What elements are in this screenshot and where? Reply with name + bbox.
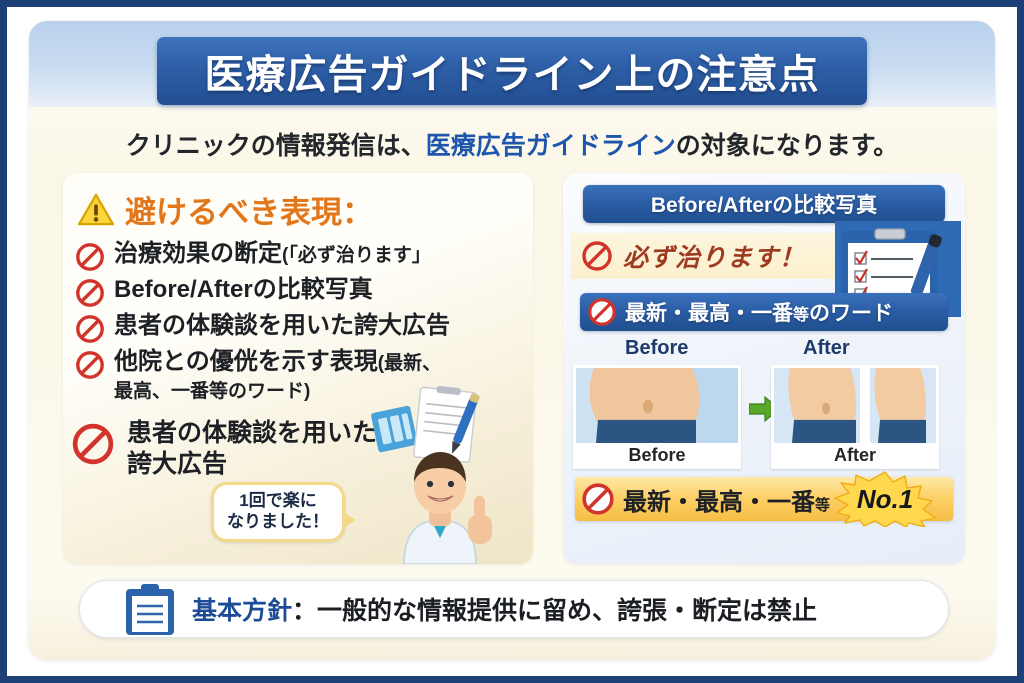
- subtitle-pre: クリニックの情報発信は、: [126, 132, 426, 160]
- after-caption: After: [774, 443, 936, 469]
- bubble-line1: 1回で楽に: [239, 491, 316, 510]
- list-item-main: 他院との優侊を示す表現: [114, 348, 378, 375]
- before-caption: Before: [576, 443, 738, 469]
- big-avoid-line2: 誇大広告: [127, 450, 227, 478]
- before-after-panel: Before/Afterの比較写真 必ず治ります！: [563, 173, 965, 564]
- warning-triangle-icon: [77, 193, 115, 227]
- list-item: 治療効果の断定(「必ず治ります」: [75, 240, 533, 272]
- before-photo-card: Before: [573, 365, 741, 469]
- no1-badge-label: No.1: [827, 471, 943, 527]
- prohibition-icon: [75, 278, 105, 308]
- list-item: 患者の体験談を用いた誇大広告: [75, 312, 533, 344]
- before-label: Before: [625, 337, 688, 360]
- list-item-note: (最新、: [378, 353, 441, 374]
- testimonial-speech-bubble: 1回で楽に なりました！: [211, 482, 345, 542]
- superlative-words-band: 最新・最高・一番等のワード: [580, 293, 948, 331]
- before-after-header-label: Before/Afterの比較写真: [651, 189, 877, 219]
- list-item-text: 患者の体験談を用いた誇大広告: [114, 312, 450, 340]
- list-item-main: 治療効果の断定: [114, 240, 282, 267]
- list-item-note: (「必ず治ります」: [282, 245, 431, 266]
- avoid-heading-row: 避けるべき表現：: [63, 173, 533, 234]
- outer-frame: 医療広告ガイドライン上の注意点 クリニックの情報発信は、医療広告ガイドラインの対…: [0, 0, 1024, 683]
- avoid-heading-label: 避けるべき表現：: [125, 187, 373, 232]
- infographic-card: 医療広告ガイドライン上の注意点 クリニックの情報発信は、医療広告ガイドラインの対…: [29, 21, 995, 660]
- after-photo-card: After: [771, 365, 939, 469]
- prohibition-icon: [581, 240, 613, 272]
- prohibition-icon: [75, 350, 105, 380]
- subtitle-highlight: 医療広告ガイドライン: [426, 132, 676, 160]
- subtitle: クリニックの情報発信は、医療広告ガイドラインの対象になります。: [29, 126, 995, 162]
- no1-claim-text: 最新・最高・一番等: [623, 482, 830, 517]
- big-avoid-line1: 患者の体験談を用いた: [127, 419, 377, 447]
- basic-policy-text: 基本方針：一般的な情報提供に留め、誇張・断定は禁止: [192, 591, 817, 627]
- body-area: 避けるべき表現： 治療効果の断定(「必ず治ります」: [63, 173, 965, 564]
- page-title-bar: 医療広告ガイドライン上の注意点: [157, 37, 867, 105]
- big-avoid-text: 患者の体験談を用いた 誇大広告: [127, 418, 377, 480]
- no1-claim-band: 最新・最高・一番等 No.1: [575, 477, 953, 521]
- superlative-words-text: 最新・最高・一番等のワード: [625, 297, 893, 327]
- no1-claim-main: 最新・最高・一番: [623, 489, 815, 516]
- prohibition-icon: [581, 482, 615, 516]
- list-item-main: 患者の体験談を用いた誇大広告: [114, 312, 450, 339]
- prohibition-icon: [75, 242, 105, 272]
- guaranteed-cure-callout: 必ず治ります！: [571, 233, 837, 279]
- prohibition-icon: [71, 422, 115, 466]
- superlative-small: 等: [793, 307, 809, 324]
- prohibition-icon: [587, 297, 617, 327]
- page-title: 医療広告ガイドライン上の注意点: [205, 42, 820, 100]
- prohibition-icon: [75, 314, 105, 344]
- superlative-main: 最新・最高・一番: [625, 302, 793, 325]
- before-after-labels: Before After: [563, 337, 965, 365]
- basic-policy-label: 基本方針: [192, 597, 292, 625]
- bubble-line2: なりました！: [227, 512, 329, 531]
- list-item-main: Before/Afterの比較写真: [114, 276, 373, 303]
- avoid-expressions-panel: 避けるべき表現： 治療効果の断定(「必ず治ります」: [63, 173, 533, 564]
- list-item-text: 治療効果の断定(「必ず治ります」: [114, 240, 431, 268]
- before-after-header: Before/Afterの比較写真: [583, 185, 945, 223]
- basic-policy-body: ：一般的な情報提供に留め、誇張・断定は禁止: [292, 597, 817, 625]
- subtitle-post: の対象になります。: [676, 132, 899, 160]
- avoid-list: 治療効果の断定(「必ず治ります」 Before/Afterの比較写真: [63, 234, 533, 404]
- guaranteed-cure-text: 必ず治ります！: [623, 238, 805, 274]
- clipboard-icon: [122, 581, 178, 637]
- superlative-tail: のワード: [809, 302, 893, 325]
- list-item-wrap: 最高、一番等のワード): [114, 381, 310, 402]
- list-item-text: Before/Afterの比較写真: [114, 276, 373, 304]
- after-photo: [774, 368, 936, 443]
- before-photo: [576, 368, 738, 443]
- before-after-photos: Before: [573, 365, 955, 469]
- no1-badge: No.1: [827, 471, 943, 527]
- after-label: After: [803, 337, 850, 360]
- doctor-thumbs-up-icon: [376, 434, 511, 564]
- basic-policy-banner: 基本方針：一般的な情報提供に留め、誇張・断定は禁止: [79, 580, 949, 638]
- list-item: Before/Afterの比較写真: [75, 276, 533, 308]
